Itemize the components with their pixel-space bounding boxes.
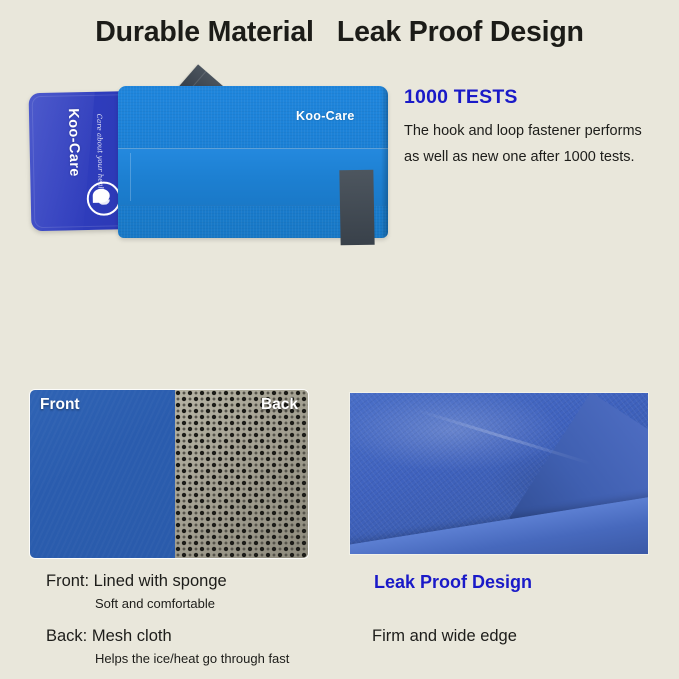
hero-product-photo: Koo-Care Care about your health! Koo-Car… — [0, 70, 400, 360]
feature-line-2: as well as new one after 1000 tests. — [404, 144, 672, 170]
front-label: Front — [40, 396, 80, 414]
front-sponge-side — [30, 390, 175, 558]
leak-proof-closeup-panel: are / — [349, 392, 649, 555]
feature-line-1: The hook and loop fastener performs — [404, 118, 672, 144]
gel-pack-tagline: Care about your health! — [95, 114, 105, 199]
koo-care-swoosh-logo-icon — [86, 181, 121, 216]
back-mesh-side — [175, 390, 308, 558]
caption-leak-proof-title: Leak Proof Design — [374, 572, 532, 593]
feature-title: 1000 TESTS — [404, 86, 672, 109]
back-label: Back — [261, 396, 298, 414]
band-tab — [121, 153, 131, 201]
caption-back-minor: Helps the ice/heat go through fast — [95, 651, 289, 666]
wrap-brand-label: Koo-Care — [296, 109, 355, 123]
product-feature-infographic: Durable Material Leak Proof Design Koo-C… — [0, 0, 679, 679]
caption-leak-proof-sub: Firm and wide edge — [372, 627, 517, 646]
gel-pack-brand-label: Koo-Care — [65, 108, 82, 177]
front-back-comparison-panel: Front Back — [30, 390, 308, 558]
caption-back-major: Back: Mesh cloth — [46, 627, 172, 646]
gel-pack-highlight — [29, 91, 96, 231]
caption-front-minor: Soft and comfortable — [95, 596, 215, 611]
page-title: Durable Material Leak Proof Design — [0, 16, 679, 49]
caption-front-major: Front: Lined with sponge — [46, 572, 227, 591]
hook-flap — [339, 170, 374, 246]
wrap-shadow-edge — [381, 86, 388, 238]
feature-text-block: 1000 TESTS The hook and loop fastener pe… — [404, 86, 672, 170]
